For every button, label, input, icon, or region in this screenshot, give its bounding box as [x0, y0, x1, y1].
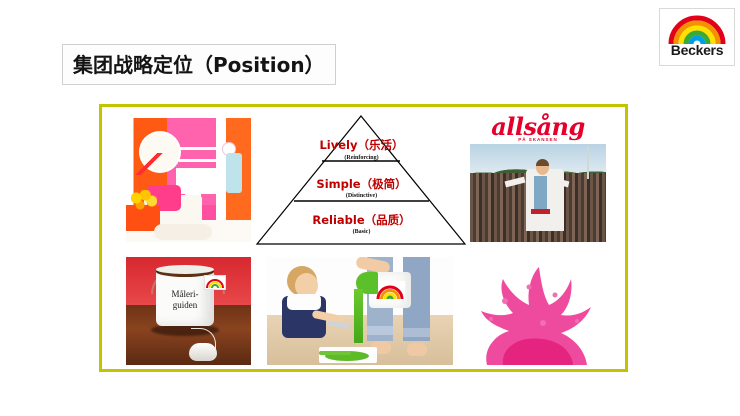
image-allsang-poster: allsång PÅ SKANSEN [470, 113, 606, 242]
page-title-en: （Position） [193, 53, 325, 77]
can-brand-line-2: guiden [173, 300, 198, 310]
content-frame-inner: Lively（乐活） (Reinforcing) Simple（极简） (Dis… [102, 107, 625, 369]
can-rainbow-icon [204, 275, 226, 290]
splash-shape-icon [469, 257, 609, 365]
beckers-logo: Beckers [659, 8, 735, 66]
can-brand-line-1: Måleri- [172, 289, 199, 299]
image-paint-can-maleriguiden: Måleri- guiden [126, 257, 251, 365]
kids-can-rainbow-icon [375, 281, 405, 301]
image-pink-paint-splash [469, 257, 609, 365]
content-frame: Lively（乐活） (Reinforcing) Simple（极简） (Dis… [99, 104, 628, 372]
page-title: 集团战略定位（Position） [62, 44, 336, 85]
pyramid-level-1-sub: (Reinforcing) [254, 155, 469, 161]
computer-mouse-prop [189, 343, 217, 361]
page-title-cn: 集团战略定位 [73, 53, 193, 77]
strategy-pyramid: Lively（乐活） (Reinforcing) Simple（极简） (Dis… [254, 113, 469, 247]
pyramid-level-3-sub: (Basic) [254, 229, 469, 235]
pyramid-level-2-label: Simple（极简） [254, 176, 469, 192]
image-interior-room [126, 118, 251, 242]
pyramid-level-2-sub: (Distinctive) [254, 193, 469, 199]
image-child-painting [267, 257, 453, 365]
rainbow-arc-icon [668, 15, 726, 44]
allsang-photo [470, 144, 606, 242]
slide-canvas: Beckers 集团战略定位（Position） [0, 0, 740, 416]
allsang-subtitle: PÅ SKANSEN [470, 137, 606, 142]
pyramid-level-3-label: Reliable（品质） [254, 212, 469, 228]
pyramid-level-1-label: Lively（乐活） [254, 137, 469, 153]
logo-wordmark: Beckers [660, 42, 734, 58]
